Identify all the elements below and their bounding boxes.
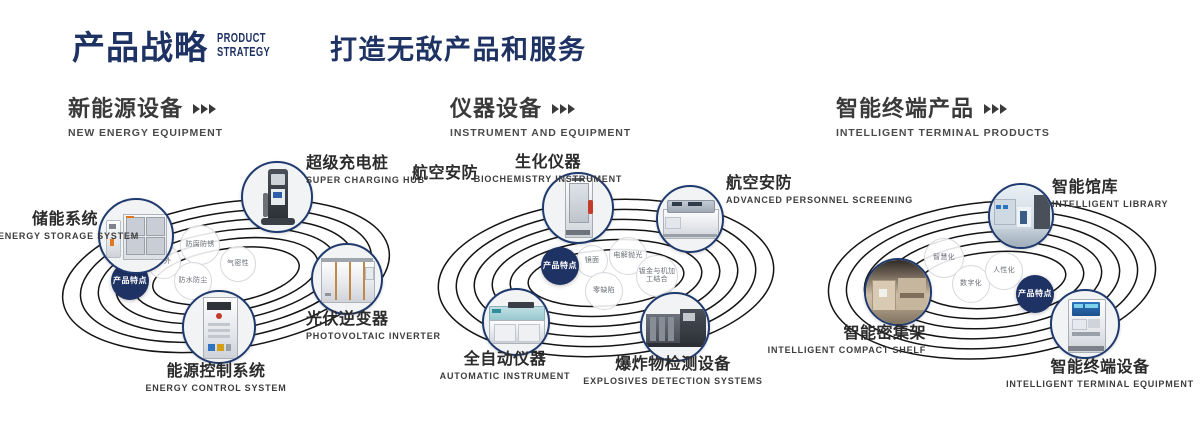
label-control-system: 能源控制系统 ENERGY CONTROL SYSTEM <box>96 362 336 395</box>
section-title-text-2: 智能终端产品 <box>836 96 974 122</box>
label-cn: 航空安防 <box>348 164 478 183</box>
smart-library-icon <box>990 185 1052 247</box>
label-cn: 智能终端设备 <box>1000 358 1200 377</box>
compact-shelf-icon <box>866 260 930 324</box>
chevron-right-icon <box>552 104 575 114</box>
diagram-instrument: 镜面 电解抛光 零缺陷 钣金与机加工结合 产品特点 航空安防 生化仪器 BIOC… <box>408 150 808 400</box>
label-cn: 储能系统 <box>0 210 98 229</box>
section-title-cn-1: 仪器设备 <box>450 96 631 122</box>
label-terminal-equipment: 智能终端设备 INTELLIGENT TERMINAL EQUIPMENT <box>1000 358 1200 391</box>
charging-pile-icon <box>243 163 311 231</box>
label-en: BIOCHEMISTRY INSTRUMENT <box>473 174 623 186</box>
label-cn: 智能密集架 <box>738 324 926 343</box>
infographic-canvas: 产品战略 PRODUCT STRATEGY 打造无敌产品和服务 新能源设备 NE… <box>0 0 1200 422</box>
core-bubble-product-features: 产品特点 <box>1016 275 1054 313</box>
chevron-right-icon <box>193 104 216 114</box>
label-compact-shelf: 智能密集架 INTELLIGENT COMPACT SHELF <box>738 324 926 357</box>
diagram-intelligent-terminal: 智慧化 数字化 人性化 产品特点 智能馆库 INTELLIGENT LIBRAR… <box>800 150 1200 400</box>
section-title-cn-0: 新能源设备 <box>68 96 223 122</box>
node-smart-library[interactable] <box>988 183 1054 249</box>
label-cn: 智能馆库 <box>1052 178 1192 197</box>
page-title-en-line2: STRATEGY <box>217 45 270 59</box>
section-title-cn-2: 智能终端产品 <box>836 96 1050 122</box>
section-title-text-0: 新能源设备 <box>68 96 183 122</box>
explosives-detector-icon <box>642 294 708 360</box>
page-title-en: PRODUCT STRATEGY <box>217 31 270 59</box>
label-smart-library: 智能馆库 INTELLIGENT LIBRARY <box>1052 178 1192 211</box>
terminal-kiosk-icon <box>1052 291 1118 357</box>
section-title-en-1: INSTRUMENT AND EQUIPMENT <box>450 127 631 139</box>
label-en: INTELLIGENT TERMINAL EQUIPMENT <box>1000 379 1200 391</box>
label-en: ENERGY STORAGE SYSTEM <box>0 231 98 243</box>
node-screening-machine[interactable] <box>656 185 724 253</box>
inverter-cabinet-icon <box>313 245 381 313</box>
label-energy-storage: 储能系统 ENERGY STORAGE SYSTEM <box>0 210 98 243</box>
diagram-new-energy: 防腐防锈 户外 防水防尘 气密性 产品特点 储能系统 ENERGY STORAG… <box>30 150 430 400</box>
core-bubble-product-features: 产品特点 <box>541 247 579 285</box>
feature-bubble-3: 气密性 <box>220 246 256 282</box>
automatic-analyzer-icon <box>484 290 548 354</box>
label-cn: 生化仪器 <box>473 153 623 172</box>
section-title-text-1: 仪器设备 <box>450 96 542 122</box>
node-compact-shelf[interactable] <box>864 258 932 326</box>
label-explosives-detection: 爆炸物检测设备 EXPLOSIVES DETECTION SYSTEMS <box>558 355 788 388</box>
feature-bubble-3: 钣金与机加工结合 <box>636 255 678 297</box>
section-title-en-2: INTELLIGENT TERMINAL PRODUCTS <box>836 127 1050 139</box>
node-explosives-detector[interactable] <box>640 292 710 362</box>
label-cn: 能源控制系统 <box>96 362 336 381</box>
node-control-cabinet[interactable] <box>182 290 256 364</box>
section-title-en-0: NEW ENERGY EQUIPMENT <box>68 127 223 139</box>
page-header: 产品战略 PRODUCT STRATEGY <box>72 26 291 70</box>
chevron-right-icon <box>984 104 1007 114</box>
node-inverter-cabinet[interactable] <box>311 243 383 315</box>
node-terminal-kiosk[interactable] <box>1050 289 1120 359</box>
label-en: INTELLIGENT LIBRARY <box>1052 199 1192 211</box>
screening-machine-icon <box>658 187 722 251</box>
control-cabinet-icon <box>184 292 254 362</box>
label-aviation-security-left: 航空安防 <box>348 164 478 183</box>
label-biochemistry: 生化仪器 BIOCHEMISTRY INSTRUMENT <box>473 153 623 186</box>
label-cn: 爆炸物检测设备 <box>558 355 788 374</box>
label-en: INTELLIGENT COMPACT SHELF <box>738 345 926 357</box>
label-en: ENERGY CONTROL SYSTEM <box>96 383 336 395</box>
feature-bubble-2: 零缺陷 <box>585 272 623 310</box>
page-subtitle: 打造无敌产品和服务 <box>330 30 587 70</box>
section-header-instrument: 仪器设备 INSTRUMENT AND EQUIPMENT <box>450 96 631 139</box>
page-title-cn: 产品战略 <box>72 26 208 70</box>
node-automatic-analyzer[interactable] <box>482 288 550 356</box>
section-header-intelligent-terminal: 智能终端产品 INTELLIGENT TERMINAL PRODUCTS <box>836 96 1050 139</box>
feature-bubble-0: 防腐防锈 <box>180 225 220 265</box>
node-charging-pile[interactable] <box>241 161 313 233</box>
label-en: EXPLOSIVES DETECTION SYSTEMS <box>558 376 788 388</box>
section-header-new-energy: 新能源设备 NEW ENERGY EQUIPMENT <box>68 96 223 139</box>
page-title-en-line1: PRODUCT <box>217 31 270 45</box>
